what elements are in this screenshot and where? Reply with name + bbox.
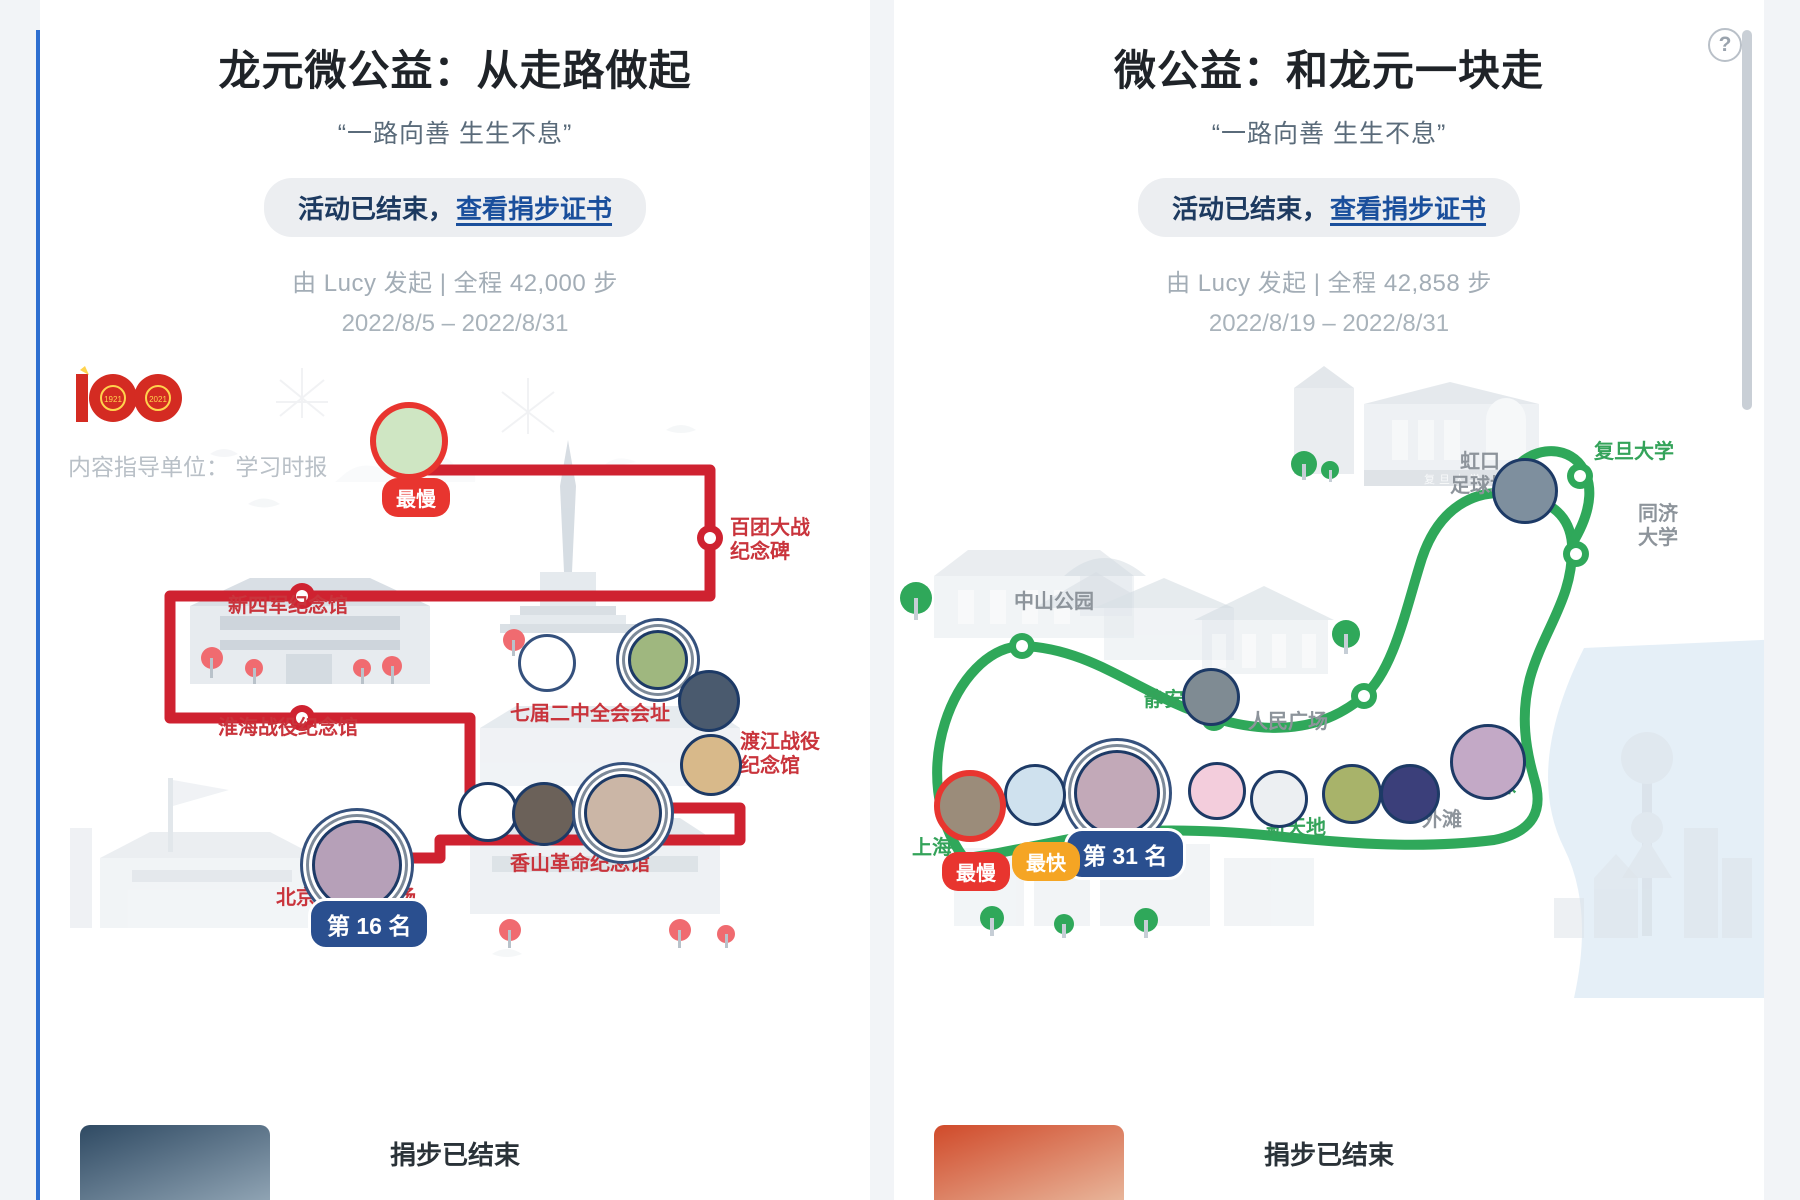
fastest-badge: 最快 (1012, 842, 1080, 881)
view-certificate-link[interactable]: 查看捐步证书 (456, 189, 612, 226)
footer-status: 捐步已结束 (894, 1135, 1764, 1172)
view-certificate-link[interactable]: 查看捐步证书 (1330, 189, 1486, 226)
avatar-rank-leader[interactable] (312, 820, 402, 910)
status-text: 活动已结束， (298, 189, 454, 226)
route-map-right[interactable]: 复旦大学 (894, 358, 1764, 998)
left-header: 龙元微公益：从走路做起 “一路向善 生生不息” 活动已结束，查看捐步证书 由 L… (40, 0, 870, 338)
avatar[interactable] (678, 670, 740, 732)
campaign-card-left: 龙元微公益：从走路做起 “一路向善 生生不息” 活动已结束，查看捐步证书 由 L… (40, 0, 870, 1200)
panel-divider (870, 0, 894, 1200)
right-margin (1764, 0, 1800, 1200)
landmark-label: 中山公园 (1014, 590, 1094, 614)
landmark-label: 香山革命纪念馆 (510, 852, 650, 876)
rank-badge: 第 31 名 (1064, 828, 1186, 880)
status-text: 活动已结束， (1172, 189, 1328, 226)
avatar[interactable] (512, 782, 576, 846)
rank-badge: 第 16 名 (308, 898, 430, 950)
avatar[interactable] (934, 770, 1006, 842)
scrollbar-thumb[interactable] (1742, 30, 1752, 410)
right-header: 微公益：和龙元一块走 “一路向善 生生不息” 活动已结束，查看捐步证书 由 Lu… (894, 0, 1764, 338)
avatar[interactable] (1450, 724, 1526, 800)
avatar[interactable] (1250, 770, 1308, 828)
avatar[interactable] (628, 630, 688, 690)
avatar[interactable] (1004, 764, 1066, 826)
avatar[interactable] (1380, 764, 1440, 824)
avatar[interactable] (680, 734, 742, 796)
page-subtitle: “一路向善 生生不息” (40, 114, 870, 150)
slowest-badge: 最慢 (942, 852, 1010, 891)
avatar[interactable] (1182, 668, 1240, 726)
page-title: 微公益：和龙元一块走 (894, 46, 1764, 96)
help-circle-icon[interactable]: ? (1708, 28, 1742, 62)
slowest-badge: 最慢 (382, 478, 450, 517)
status-badge[interactable]: 活动已结束，查看捐步证书 (1138, 178, 1520, 237)
campaign-card-right: ? 微公益：和龙元一块走 “一路向善 生生不息” 活动已结束，查看捐步证书 由 … (894, 0, 1764, 1200)
landmark-label: 人民广场 (1248, 710, 1328, 734)
landmark-label: 淮海战役纪念馆 (218, 716, 358, 740)
footer-status: 捐步已结束 (40, 1135, 870, 1172)
landmark-label: 复旦大学 (1594, 440, 1674, 464)
organizer-and-steps: 由 Lucy 发起 | 全程 42,858 步 (894, 263, 1764, 298)
organizer-and-steps: 由 Lucy 发起 | 全程 42,000 步 (40, 263, 870, 298)
route-map-left[interactable]: 1921 2021 内容指导单位： 学习时报 (40, 358, 870, 998)
avatar[interactable] (518, 634, 576, 692)
avatar[interactable] (1322, 764, 1382, 824)
landmark-label: 同济 大学 (1638, 502, 1678, 551)
scrollbar-track[interactable] (1748, 0, 1758, 1200)
left-accent-bar (0, 0, 40, 1200)
avatar[interactable] (370, 402, 448, 480)
page-title: 龙元微公益：从走路做起 (40, 46, 870, 96)
avatar[interactable] (458, 782, 518, 842)
landmark-label: 新四军纪念馆 (228, 594, 348, 618)
page-subtitle: “一路向善 生生不息” (894, 114, 1764, 150)
app-root: 龙元微公益：从走路做起 “一路向善 生生不息” 活动已结束，查看捐步证书 由 L… (0, 0, 1800, 1200)
landmark-label: 七届二中全会会址 (510, 702, 670, 726)
landmark-label: 百团大战 纪念碑 (730, 516, 810, 565)
avatar-rank-leader[interactable] (1074, 750, 1160, 836)
date-range: 2022/8/5 – 2022/8/31 (40, 310, 870, 338)
status-badge[interactable]: 活动已结束，查看捐步证书 (264, 178, 646, 237)
left-map-illustration (40, 358, 870, 998)
landmark-label: 渡江战役 纪念馆 (740, 730, 820, 779)
avatar[interactable] (1188, 762, 1246, 820)
date-range: 2022/8/19 – 2022/8/31 (894, 310, 1764, 338)
avatar[interactable] (1492, 458, 1558, 524)
avatar[interactable] (584, 774, 662, 852)
